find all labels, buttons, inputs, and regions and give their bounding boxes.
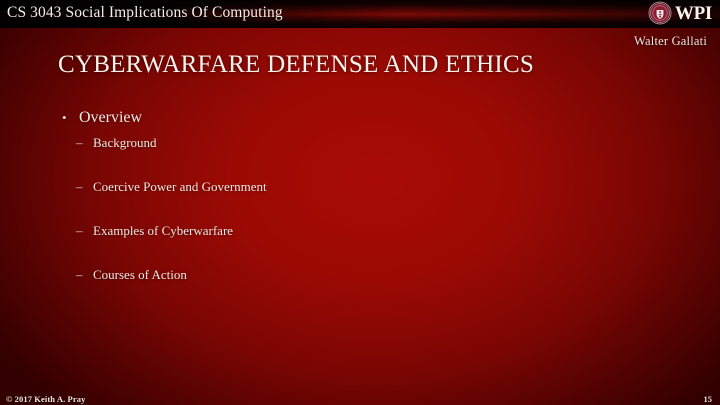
bullet-label: Background [93, 135, 157, 150]
bullet-label: Coercive Power and Government [93, 179, 267, 194]
slide-body: • Overview – Background – Coercive Power… [0, 108, 720, 283]
slide-title: CYBERWARFARE DEFENSE AND ETHICS [58, 51, 534, 79]
bullet-item-coercive-power: – Coercive Power and Government [0, 178, 720, 195]
slide-footer: © 2017 Keith A. Pray 15 [0, 391, 720, 405]
bullet-label: Courses of Action [93, 267, 187, 282]
bullet-item-background: – Background [0, 134, 720, 151]
bullet-label: Overview [79, 109, 142, 126]
bullet-item-overview: • Overview [0, 108, 720, 128]
wpi-wordmark: WPI [675, 4, 712, 23]
bullet-item-courses-of-action: – Courses of Action [0, 266, 720, 283]
dash-marker: – [76, 134, 83, 151]
bullet-item-examples: – Examples of Cyberwarfare [0, 222, 720, 239]
copyright-notice: © 2017 Keith A. Pray [6, 394, 85, 404]
author-name: Walter Gallati [634, 34, 707, 49]
wpi-seal-icon [648, 1, 672, 25]
dash-marker: – [76, 222, 83, 239]
bullet-marker: • [62, 108, 67, 128]
bullet-label: Examples of Cyberwarfare [93, 223, 233, 238]
dash-marker: – [76, 266, 83, 283]
wpi-logo: WPI [648, 1, 712, 25]
slide-header-bar: CS 3043 Social Implications Of Computing [0, 0, 720, 28]
presentation-slide: CS 3043 Social Implications Of Computing… [0, 0, 720, 405]
dash-marker: – [76, 178, 83, 195]
page-number: 15 [704, 394, 713, 404]
course-title: CS 3043 Social Implications Of Computing [7, 4, 283, 22]
